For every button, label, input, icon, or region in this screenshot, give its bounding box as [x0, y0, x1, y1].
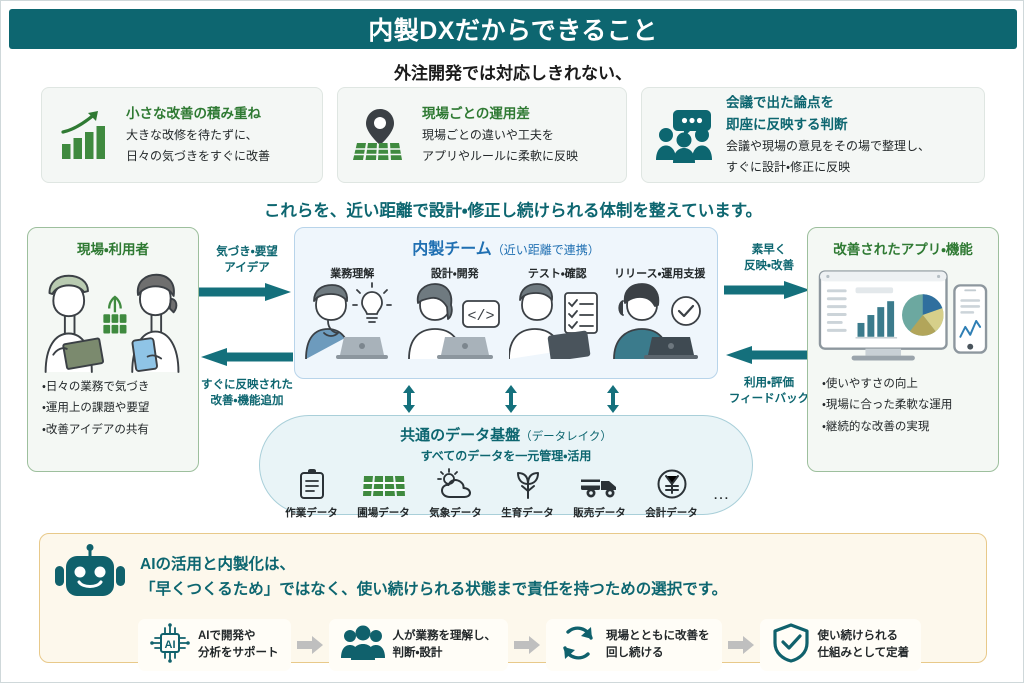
panel-field-users: 現場・利用者	[27, 227, 199, 472]
arrow-left-icon	[724, 345, 814, 370]
main-flow-section: 現場・利用者	[1, 223, 1024, 523]
feature-card-text: 小さな改善の積み重ね 大きな改修を待たずに、 日々の気づきをすぐに改善	[126, 105, 270, 165]
ai-headline: AIの活用と内製化は、 「早くつくるため」ではなく、使い続けられる状態まで責任を…	[140, 554, 727, 601]
data-lake-title: 共通のデータ基盤	[400, 427, 520, 444]
team-step-label: リリース・運用支援	[612, 265, 708, 281]
refresh-cycle-icon	[558, 623, 598, 668]
ai-summary-box: AIの活用と内製化は、 「早くつくるため」ではなく、使い続けられる状態まで責任を…	[39, 533, 987, 663]
vertical-arrow-group	[401, 385, 661, 415]
feature-card-meeting-decision: 会議で出た論点を 即座に反映する判断 会議や現場の意見をその場で整理し、 すぐに…	[641, 87, 985, 183]
data-lake-item-sales: 販売データ	[569, 468, 631, 520]
ai-chip-icon: AI	[150, 623, 190, 668]
panel-title: 改善されたアプリ・機能	[816, 238, 990, 258]
ai-step-text: 使い続けられる 仕組みとして定着	[818, 628, 910, 663]
ai-step-label-line2: 分析をサポート	[198, 645, 279, 662]
team-panel-title-note: （近い距離で連携）	[492, 243, 600, 257]
ai-headline-line2: 「早くつくるため」ではなく、使い続けられる状態まで責任を持つための選択です。	[140, 579, 727, 601]
clipboard-icon	[281, 468, 343, 505]
feature-card-body-line1: 会議や現場の意見をその場で整理し、	[726, 137, 930, 155]
ai-step-text: 人が業務を理解し、 判断・設計	[393, 628, 497, 663]
person-thinking-lightbulb-icon	[304, 281, 400, 364]
bullet-item: ・継続的な改善の実現	[822, 417, 990, 438]
bullet-item: ・使いやすさの向上	[822, 374, 990, 395]
arrow-up-down-icon	[401, 385, 417, 415]
feature-card-site-variation: 現場ごとの運用差 現場ごとの違いや工夫を アプリやルールに柔軟に反映	[337, 87, 627, 183]
data-lake-item-label: 圃場データ	[353, 505, 415, 520]
person-checklist-icon	[509, 281, 605, 364]
ai-step-label-line1: 現場とともに改善を	[606, 628, 710, 645]
panel-bullets: ・日々の業務で気づき ・運用上の課題や要望 ・改善アイデアの共有	[36, 377, 190, 441]
feature-card-title: 小さな改善の積み重ね	[126, 105, 270, 123]
feature-cards-row: 小さな改善の積み重ね 大きな改修を待たずに、 日々の気づきをすぐに改善	[41, 87, 985, 183]
ai-headline-line1: AIの活用と内製化は、	[140, 554, 727, 576]
panel-title: 現場・利用者	[36, 238, 190, 258]
data-lake-items-row: 作業データ	[260, 468, 752, 520]
data-lake-item-work: 作業データ	[281, 468, 343, 520]
feature-card-body-line1: 現場ごとの違いや工夫を	[422, 126, 578, 144]
arrow-up-down-icon	[503, 385, 519, 415]
map-pin-field-icon	[350, 104, 412, 166]
data-lake-title-note: （データレイク）	[520, 431, 612, 443]
feature-card-title-line2: 即座に反映する判断	[726, 116, 930, 134]
ai-step-sustainable-system: 使い続けられる 仕組みとして定着	[760, 619, 922, 671]
subtitle-primary: 外注開発では対応しきれない、	[1, 59, 1024, 84]
bullet-item: ・現場に合った柔軟な運用	[822, 395, 990, 416]
ai-step-label-line1: 人が業務を理解し、	[393, 628, 497, 645]
panel-improved-apps: 改善されたアプリ・機能	[807, 227, 999, 472]
feature-card-body-line2: すぐに設計・修正に反映	[726, 158, 930, 176]
team-steps-row: 業務理解	[295, 265, 717, 364]
arrow-label-top-line1: 素早く	[724, 243, 814, 259]
arrow-label-bottom-line2: フィードバック	[724, 392, 814, 408]
feature-card-text: 会議で出た論点を 即座に反映する判断 会議や現場の意見をその場で整理し、 すぐに…	[726, 94, 930, 175]
field-workers-illustration	[36, 262, 190, 377]
data-lake-item-growth: 生育データ	[497, 468, 559, 520]
header-bar: 内製DXだからできること	[9, 9, 1017, 49]
people-group-icon	[341, 624, 385, 667]
bar-chart-growth-icon	[54, 104, 116, 166]
ai-step-text: AIで開発や 分析をサポート	[198, 628, 279, 663]
panel-data-lake: 共通のデータ基盤（データレイク） すべてのデータを一元管理・活用	[259, 415, 753, 515]
team-panel-title: 内製チーム	[412, 241, 492, 258]
arrow-right-icon	[728, 635, 754, 655]
ai-step-label-line1: 使い続けられる	[818, 628, 910, 645]
meeting-people-icon	[654, 104, 716, 166]
desktop-and-mobile-dashboard-illustration	[816, 262, 990, 374]
arrow-right-icon	[724, 280, 814, 305]
data-lake-title-row: 共通のデータ基盤（データレイク）	[260, 424, 752, 445]
shield-check-icon	[772, 623, 810, 668]
arrow-label-bottom-line1: 利用・評価	[724, 376, 814, 392]
sprout-icon	[497, 468, 559, 505]
left-arrow-group: 気づき・要望 アイデア すぐに反映された 改善・機能追加	[199, 245, 295, 420]
feature-card-body-line2: 日々の気づきをすぐに改善	[126, 147, 270, 165]
ai-step-continuous-cycle: 現場とともに改善を 回し続ける	[546, 619, 722, 671]
arrow-right-icon	[514, 635, 540, 655]
team-panel-title-row: 内製チーム（近い距離で連携）	[295, 235, 717, 259]
svg-text:</>: </>	[467, 308, 494, 325]
field-grid-icon	[353, 468, 415, 505]
ai-step-label-line1: AIで開発や	[198, 628, 279, 645]
person-support-check-icon	[612, 281, 708, 364]
truck-icon	[569, 468, 631, 505]
arrow-label-top-line1: 気づき・要望	[199, 245, 295, 261]
data-lake-item-field: 圃場データ	[353, 468, 415, 520]
data-lake-item-label: 会計データ	[641, 505, 703, 520]
team-step-design-develop: 設計・開発 </>	[407, 265, 503, 364]
arrow-label-bottom-line2: 改善・機能追加	[199, 394, 295, 410]
subtitle-secondary: これらを、近い距離で設計・修正し続けられる体制を整えています。	[1, 197, 1024, 221]
ai-steps-row: AI AIで開発や	[54, 619, 972, 671]
ai-summary-head: AIの活用と内製化は、 「早くつくるため」ではなく、使い続けられる状態まで責任を…	[54, 544, 972, 611]
page-title: 内製DXだからできること	[368, 11, 657, 47]
ai-step-label-line2: 仕組みとして定着	[818, 645, 910, 662]
arrow-right-icon	[199, 282, 295, 307]
arrow-right-icon	[297, 635, 323, 655]
data-lake-item-label: 販売データ	[569, 505, 631, 520]
ai-step-label-line2: 回し続ける	[606, 645, 710, 662]
team-step-label: 設計・開発	[407, 265, 503, 281]
robot-icon	[54, 544, 126, 611]
arrow-label-top-line2: アイデア	[199, 261, 295, 277]
ai-step-ai-support: AI AIで開発や	[138, 619, 291, 671]
feature-card-text: 現場ごとの運用差 現場ごとの違いや工夫を アプリやルールに柔軟に反映	[422, 105, 578, 165]
team-step-label: テスト・確認	[509, 265, 605, 281]
team-step-release-support: リリース・運用支援	[612, 265, 708, 364]
data-lake-item-weather: 気象データ	[425, 468, 487, 520]
person-coding-icon: </>	[407, 281, 503, 364]
panel-bullets: ・使いやすさの向上 ・現場に合った柔軟な運用 ・継続的な改善の実現	[816, 374, 990, 438]
panel-internal-team: 内製チーム（近い距離で連携） 業務理解	[294, 227, 718, 379]
ai-step-label-line2: 判断・設計	[393, 645, 497, 662]
data-lake-item-accounting: 会計データ	[641, 468, 703, 520]
feature-card-title: 現場ごとの運用差	[422, 105, 578, 123]
bullet-item: ・日々の業務で気づき	[42, 377, 190, 398]
team-step-test-verify: テスト・確認	[509, 265, 605, 364]
arrow-left-icon	[199, 347, 295, 372]
ai-step-text: 現場とともに改善を 回し続ける	[606, 628, 710, 663]
feature-card-body-line2: アプリやルールに柔軟に反映	[422, 147, 578, 165]
yen-circle-icon	[641, 468, 703, 505]
bullet-item: ・改善アイデアの共有	[42, 420, 190, 441]
team-step-label: 業務理解	[304, 265, 400, 281]
svg-text:AI: AI	[165, 639, 176, 651]
ai-step-human-understanding: 人が業務を理解し、 判断・設計	[329, 619, 509, 671]
arrow-up-down-icon	[605, 385, 621, 415]
infographic-page: 内製DXだからできること 外注開発では対応しきれない、 小さな改善の積み重ね 大…	[0, 0, 1024, 683]
bullet-item: ・運用上の課題や要望	[42, 398, 190, 419]
data-lake-ellipsis: …	[713, 484, 732, 520]
right-arrow-group: 素早く 反映・改善 利用・評価 フィードバック	[724, 243, 814, 418]
data-lake-item-label: 生育データ	[497, 505, 559, 520]
feature-card-small-improvements: 小さな改善の積み重ね 大きな改修を待たずに、 日々の気づきをすぐに改善	[41, 87, 323, 183]
data-lake-subtitle: すべてのデータを一元管理・活用	[260, 447, 752, 464]
weather-cloud-sun-icon	[425, 468, 487, 505]
data-lake-item-label: 作業データ	[281, 505, 343, 520]
feature-card-body-line1: 大きな改修を待たずに、	[126, 126, 270, 144]
arrow-label-top-line2: 反映・改善	[724, 259, 814, 275]
feature-card-title-line1: 会議で出た論点を	[726, 94, 930, 112]
arrow-label-bottom-line1: すぐに反映された	[199, 378, 295, 394]
team-step-understand: 業務理解	[304, 265, 400, 364]
data-lake-item-label: 気象データ	[425, 505, 487, 520]
